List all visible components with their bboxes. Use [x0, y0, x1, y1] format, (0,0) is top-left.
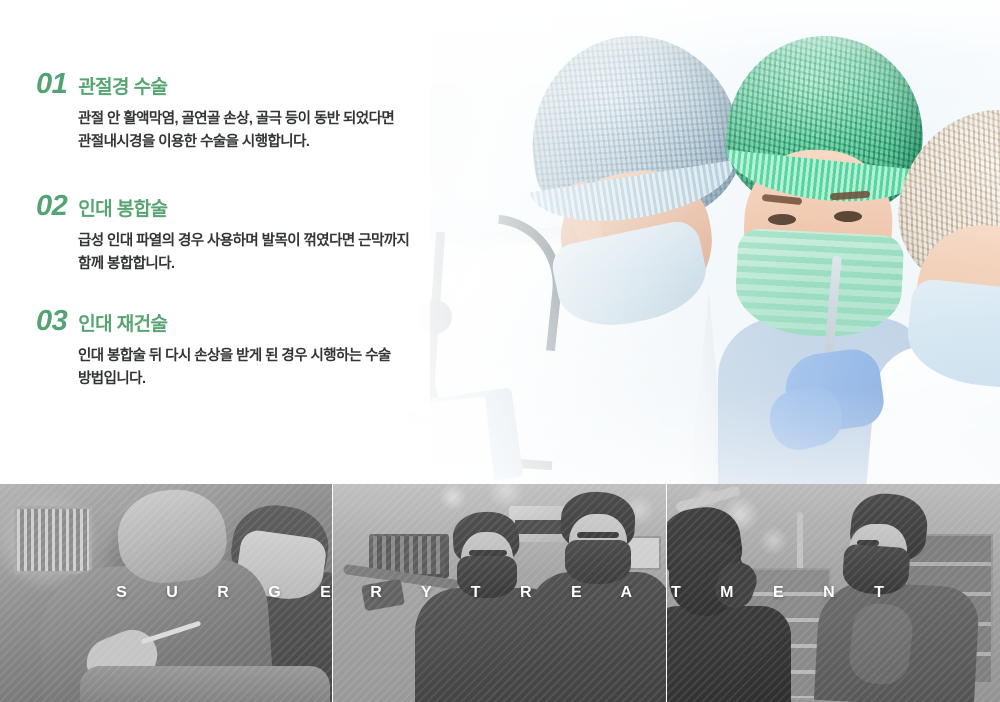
- treatment-item-1-number: 01: [36, 70, 67, 99]
- treatment-item-2-description: 급성 인대 파열의 경우 사용하며 발목이 꺾였다면 근막까지 함께 봉합합니다…: [78, 230, 409, 277]
- hero-banner: 01 관절경 수술 관절 안 활액막염, 골연골 손상, 골극 등이 동반 되었…: [0, 0, 1000, 484]
- treatment-item-2-number: 02: [36, 192, 67, 221]
- surgical-drape: [80, 666, 330, 702]
- treatment-item-1: 01 관절경 수술 관절 안 활액막염, 골연골 손상, 골극 등이 동반 되었…: [36, 70, 394, 155]
- treatment-item-2-title: 인대 봉합술: [78, 200, 167, 221]
- treatment-item-3: 03 인대 재건술 인대 봉합술 뒤 다시 손상을 받게 된 경우 시행하는 수…: [36, 307, 391, 392]
- operating-room-shelf: [14, 506, 92, 574]
- surgeon-b-eyes: [577, 532, 619, 538]
- treatment-item-1-title: 관절경 수술: [78, 78, 167, 99]
- wall-panel-screen: [515, 520, 565, 534]
- photo-strip: [0, 484, 1000, 702]
- surgeon-a-mask: [457, 556, 517, 598]
- strip-photo-1: [0, 484, 332, 702]
- strip-photo-3: [667, 484, 1000, 702]
- treatment-item-1-header: 01 관절경 수술: [36, 70, 394, 99]
- treatment-item-3-header: 03 인대 재건술: [36, 307, 391, 336]
- treatment-item-3-title: 인대 재건술: [78, 315, 167, 336]
- treatment-item-3-number: 03: [36, 307, 67, 336]
- strip-photo-2: [332, 484, 667, 702]
- treatment-list: 01 관절경 수술 관절 안 활액막염, 골연골 손상, 골극 등이 동반 되었…: [0, 0, 520, 484]
- surgeon-b-body: [529, 572, 667, 702]
- surgeon-b-mask: [565, 540, 631, 584]
- surgeon-d-body: [667, 606, 791, 702]
- surgery-treatment-section: 01 관절경 수술 관절 안 활액막염, 골연골 손상, 골극 등이 동반 되었…: [0, 0, 1000, 702]
- treatment-item-2-header: 02 인대 봉합술: [36, 192, 409, 221]
- surgical-monitor-screen: [373, 536, 445, 574]
- treatment-item-1-description: 관절 안 활액막염, 골연골 손상, 골극 등이 동반 되었다면 관절내시경을 …: [78, 108, 394, 155]
- treatment-item-3-description: 인대 봉합술 뒤 다시 손상을 받게 된 경우 시행하는 수술 방법입니다.: [78, 345, 391, 392]
- treatment-item-2: 02 인대 봉합술 급성 인대 파열의 경우 사용하며 발목이 꺾였다면 근막까…: [36, 192, 409, 277]
